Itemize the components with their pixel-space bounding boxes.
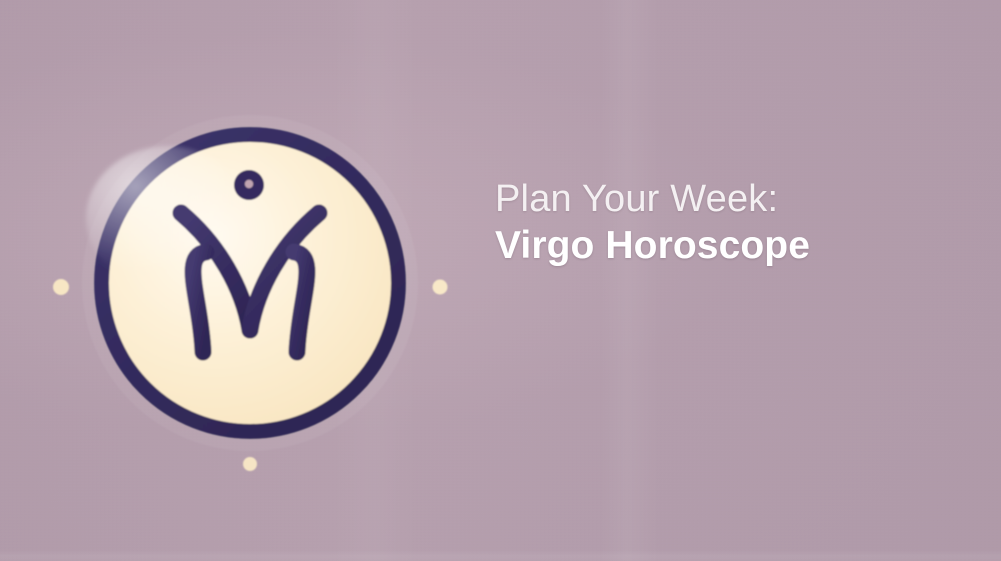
headline-block: Plan Your Week: Virgo Horoscope [495,176,955,270]
headline-line-2: Virgo Horoscope [495,222,955,270]
background-gradient [0,0,1001,561]
poster-canvas: Plan Your Week: Virgo Horoscope [0,0,1001,561]
headline-line-1: Plan Your Week: [495,176,955,222]
